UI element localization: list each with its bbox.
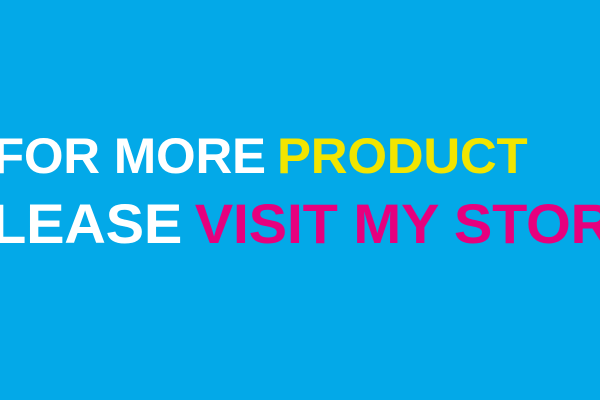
- headline-segment-please: PLEASE: [0, 192, 182, 255]
- headline-block: FOR MOREPRODUCT PLEASEVISIT MY STORE: [0, 0, 600, 400]
- headline-segment-product: PRODUCT: [277, 128, 527, 184]
- headline-segment-visit-my-store: VISIT MY STORE: [195, 192, 600, 255]
- headline-line-1: FOR MOREPRODUCT: [0, 131, 527, 181]
- headline-segment-for-more: FOR MORE: [0, 128, 266, 184]
- promo-banner: FOR MOREPRODUCT PLEASEVISIT MY STORE: [0, 0, 600, 400]
- headline-line-2: PLEASEVISIT MY STORE: [0, 196, 600, 252]
